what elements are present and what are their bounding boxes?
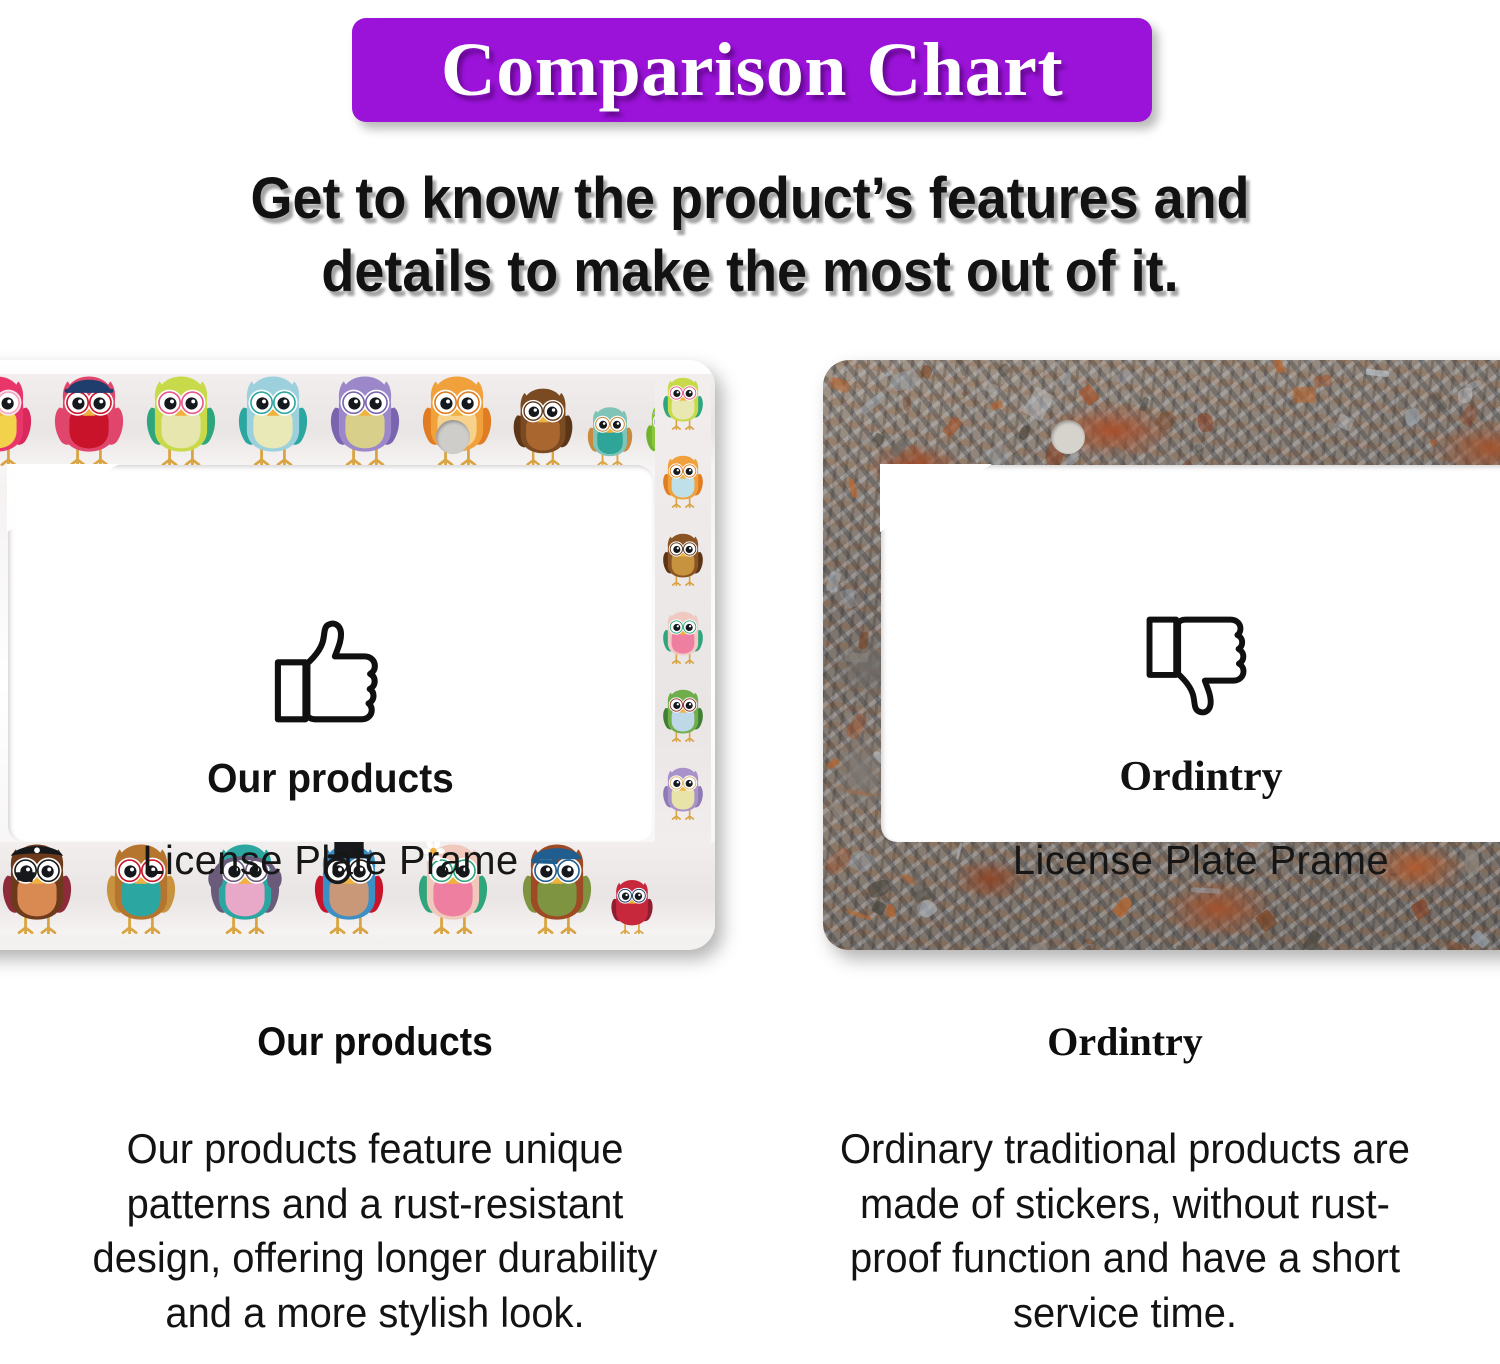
owl-green-scarf-pink-icon (658, 374, 708, 430)
rust-flake (1403, 408, 1421, 427)
rust-flake (1430, 438, 1439, 447)
owl-brown-mid-icon (658, 530, 708, 586)
screw-hole (436, 420, 470, 454)
rust-flake (1335, 413, 1355, 431)
ordinary-product-panel: Ordintry License Plate Prame (823, 360, 1500, 950)
rust-flake (827, 758, 840, 770)
owl-purple-stripe-icon (322, 374, 408, 466)
column-body-right: Ordinary traditional products are made o… (769, 1122, 1482, 1340)
rust-flake (996, 362, 1013, 378)
owl-lavender-hat-icon (658, 764, 708, 820)
column-heading-left: Our products (26, 1020, 724, 1064)
rust-flake (941, 415, 962, 437)
comparison-column-right: Ordintry Ordinary traditional products a… (750, 1020, 1500, 1340)
thumbs-down-icon (1140, 615, 1262, 731)
comparison-description-row: Our products Our products feature unique… (0, 1020, 1500, 1340)
rust-flake (954, 360, 967, 376)
column-heading-right: Ordintry (750, 1020, 1500, 1064)
rust-flake (1078, 383, 1100, 406)
owl-green-scarf-icon (138, 374, 224, 466)
rust-flake (858, 391, 887, 416)
rust-flake (1458, 402, 1482, 427)
rust-flake (1195, 444, 1203, 453)
rust-flake (961, 390, 968, 397)
rust-flake (918, 364, 934, 380)
owl-red-heart-beanie-icon (46, 374, 132, 466)
comparison-column-left: Our products Our products feature unique… (0, 1020, 750, 1340)
rust-flake (1029, 941, 1049, 950)
rust-flake (1444, 939, 1463, 950)
owl-teal-heart-small-icon (582, 403, 638, 466)
rust-flake (845, 653, 868, 663)
subtitle-line-1: Get to know the product’s features and (53, 162, 1448, 235)
rust-flake (1109, 444, 1128, 463)
owl-pink-heart-icon (0, 374, 40, 466)
rust-flake (839, 588, 857, 610)
owl-license-plate-frame: Our products License Plate Prame (0, 360, 715, 950)
rust-flake (1018, 424, 1031, 441)
rust-flake (1254, 909, 1278, 933)
rust-flake (1154, 408, 1178, 432)
rust-flake (902, 397, 913, 412)
rust-flake (1460, 376, 1467, 384)
comparison-chart-banner: Comparison Chart (352, 18, 1152, 122)
rust-flake (1313, 375, 1332, 388)
subtitle: Get to know the product’s features and d… (53, 162, 1448, 308)
our-product-panel: Our products License Plate Prame (0, 360, 715, 950)
rust-flake (867, 879, 893, 900)
rust-flake (889, 438, 910, 459)
rust-flake (1398, 399, 1405, 410)
rust-flake (1464, 944, 1469, 950)
rust-flake (1458, 387, 1473, 403)
thumbs-up-icon (268, 620, 394, 738)
rust-flake (1366, 368, 1390, 377)
rust-flake (1411, 899, 1431, 920)
owl-rose-teal-icon (658, 608, 708, 664)
rust-flake (871, 900, 888, 916)
rust-flake (1191, 887, 1220, 893)
column-body-left: Our products feature unique patterns and… (19, 1122, 732, 1340)
in-frame-title-left: Our products (24, 755, 637, 802)
rust-flake (1293, 387, 1316, 403)
rust-flake (1273, 360, 1286, 374)
rust-flake (1197, 412, 1214, 433)
rust-flake (1112, 895, 1135, 919)
owl-pattern-top-row (0, 374, 715, 466)
rust-flake (981, 381, 999, 395)
rust-flake (1062, 372, 1072, 385)
owl-orange-bib-icon (658, 452, 708, 508)
rust-flake (1303, 929, 1323, 950)
rust-flake (826, 571, 842, 593)
rust-flake (1471, 930, 1491, 950)
page-title: Comparison Chart (441, 32, 1063, 108)
rust-flake (890, 369, 920, 392)
rusted-license-plate-frame: Ordintry License Plate Prame (823, 360, 1500, 950)
plate-window-right: Ordintry License Plate Prame (881, 465, 1500, 842)
rust-flake (1138, 397, 1149, 413)
rust-flake (1175, 944, 1186, 950)
in-frame-subtitle-right: License Plate Prame (891, 837, 1500, 884)
rust-flake (828, 375, 852, 393)
rust-flake (1209, 945, 1229, 950)
rust-flake (1084, 938, 1094, 944)
rust-flake (846, 909, 872, 920)
rust-flake (845, 788, 873, 797)
rust-flake (858, 632, 869, 650)
owl-green-bowler-icon (658, 686, 708, 742)
rust-flake (848, 478, 857, 499)
in-frame-subtitle-left: License Plate Prame (18, 837, 644, 884)
in-frame-title-right: Ordintry (881, 753, 1500, 801)
rust-flake (1381, 931, 1401, 945)
owl-teal-speckle-icon (230, 374, 316, 466)
owl-brown-dark-icon (506, 383, 580, 466)
rust-flake (1023, 387, 1055, 423)
rust-flake (1429, 392, 1448, 414)
plate-window-left: Our products License Plate Prame (8, 465, 653, 842)
rust-flake (990, 400, 1003, 412)
rust-flake (1115, 368, 1134, 386)
screw-hole (1051, 420, 1085, 454)
subtitle-line-2: details to make the most out of it. (53, 235, 1448, 308)
owl-red-small-icon (606, 876, 658, 934)
